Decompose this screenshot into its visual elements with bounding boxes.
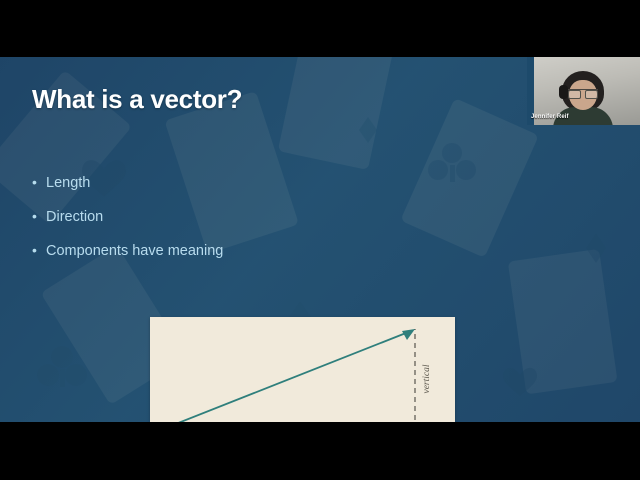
- bullet-icon: •: [32, 209, 46, 223]
- list-item: • Components have meaning: [32, 243, 352, 259]
- page-title: What is a vector?: [32, 84, 242, 115]
- webcam-overlay[interactable]: Jennifer Reif: [527, 57, 640, 125]
- list-item: • Length: [32, 175, 352, 191]
- letterbox-bar-bottom: [0, 422, 640, 480]
- vertical-label: vertical: [422, 364, 432, 393]
- list-item-label: Components have meaning: [46, 243, 223, 259]
- letterbox-bar-top: [0, 0, 640, 57]
- list-item-label: Direction: [46, 209, 103, 225]
- bullet-icon: •: [32, 175, 46, 189]
- video-player-frame: What is a vector? • Length • Direction •…: [0, 0, 640, 480]
- glasses-icon: [568, 89, 598, 98]
- webcam-participant-name: Jennifer Reif: [531, 114, 569, 120]
- bullet-list: • Length • Direction • Components have m…: [32, 175, 352, 277]
- list-item: • Direction: [32, 209, 352, 225]
- headset-icon: [559, 85, 568, 99]
- list-item-label: Length: [46, 175, 90, 191]
- vector-diagram-panel: horizontal vertical: [150, 317, 455, 422]
- bullet-icon: •: [32, 243, 46, 257]
